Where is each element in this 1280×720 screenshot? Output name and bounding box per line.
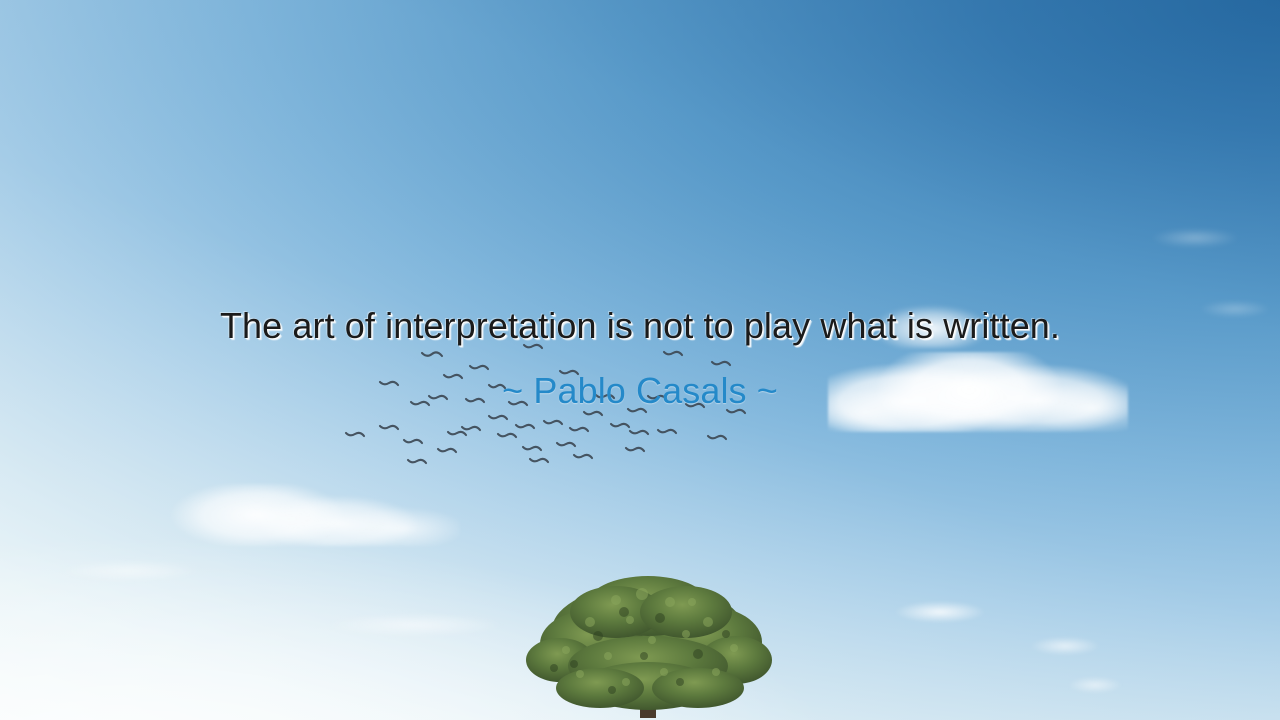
quote-block: The art of interpretation is not to play… bbox=[0, 302, 1280, 414]
sky-haze bbox=[0, 461, 1280, 720]
quote-text: The art of interpretation is not to play… bbox=[0, 302, 1280, 350]
quote-image: The art of interpretation is not to play… bbox=[0, 0, 1280, 720]
quote-attribution: ~ Pablo Casals ~ bbox=[0, 368, 1280, 414]
